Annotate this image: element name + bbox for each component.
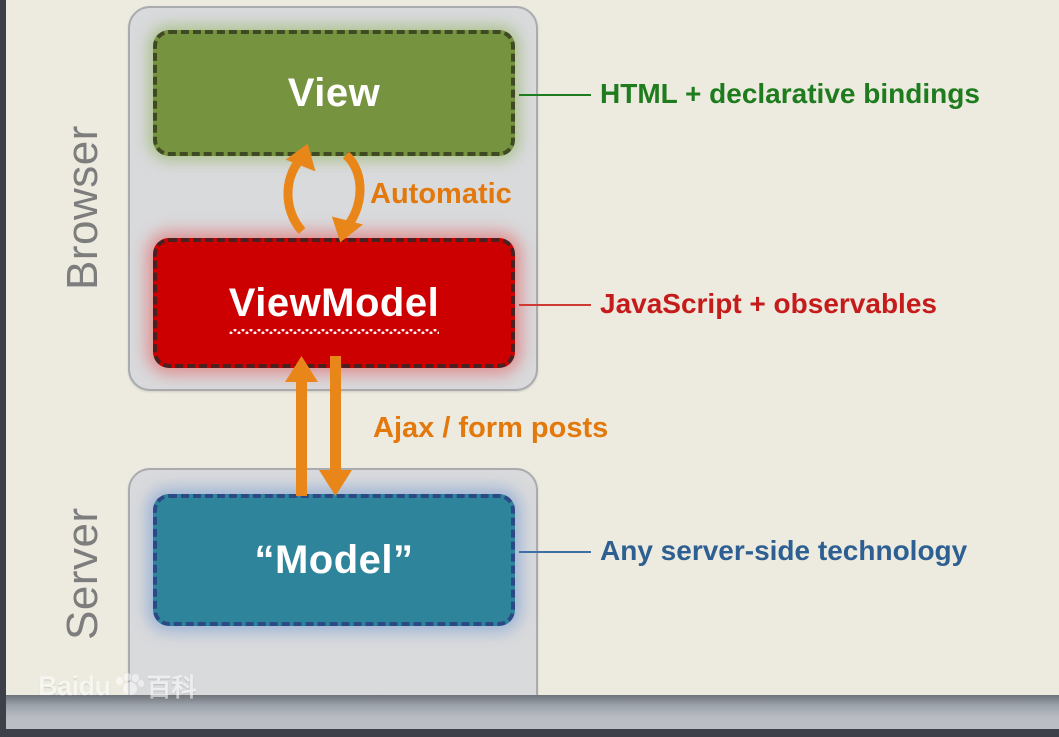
bottom-dark-bar [0, 729, 1059, 737]
server-zone-label: Server [58, 507, 108, 640]
component-box-view[interactable]: View [153, 30, 515, 156]
component-label-view: View [288, 71, 380, 116]
component-label-model: “Model” [254, 538, 413, 583]
spellcheck-underline [229, 329, 439, 334]
component-box-viewmodel[interactable]: ViewModel [153, 238, 515, 368]
diagram-canvas: Browser Server View ViewModel “Model” Au… [0, 0, 1059, 737]
left-dark-edge [0, 0, 6, 737]
component-label-viewmodel: ViewModel [229, 281, 439, 326]
callout-text-viewmodel: JavaScript + observables [600, 288, 937, 320]
browser-zone-label: Browser [58, 125, 108, 290]
callout-text-model: Any server-side technology [600, 535, 967, 567]
callout-leader-line-model [519, 551, 591, 553]
callout-leader-line-view [519, 94, 591, 96]
callout-leader-line-viewmodel [519, 304, 591, 306]
ajax-flow-label: Ajax / form posts [373, 412, 608, 445]
bottom-gradient-strip [0, 695, 1059, 730]
automatic-flow-label: Automatic [370, 178, 512, 211]
component-box-model[interactable]: “Model” [153, 494, 515, 626]
callout-text-view: HTML + declarative bindings [600, 78, 980, 110]
